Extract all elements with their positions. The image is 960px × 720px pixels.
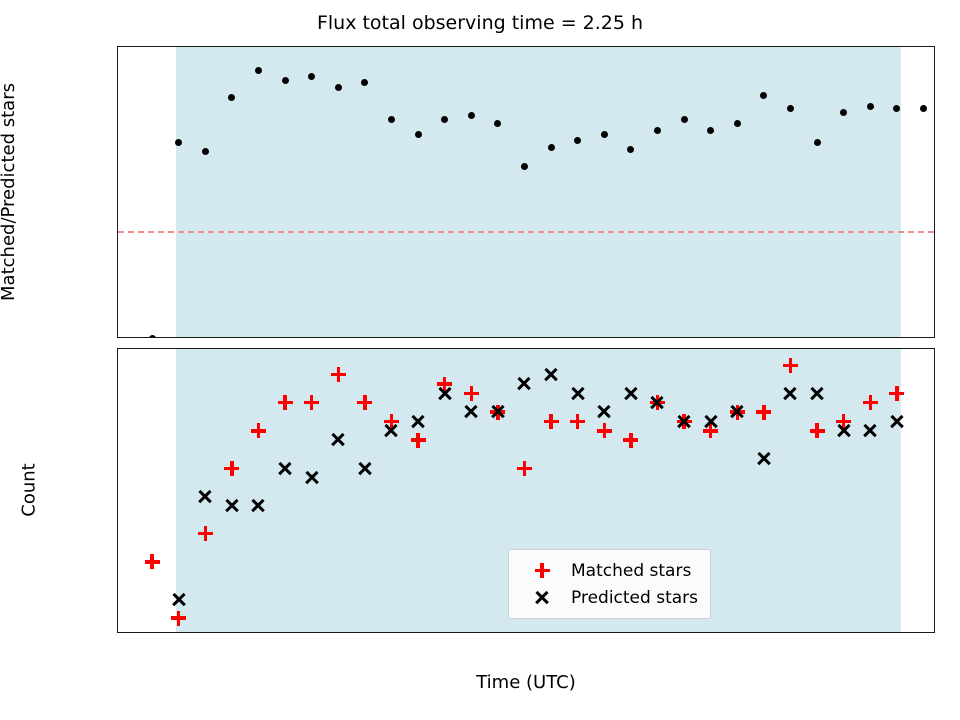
x-tick-mark <box>157 337 158 338</box>
top-panel-axes: 0.000.250.500.751.001.25 Measurements Th… <box>117 46 935 338</box>
predicted-stars-x-icon <box>519 588 565 608</box>
y-tick-mark <box>117 618 118 619</box>
measurement-point <box>468 112 475 119</box>
top-panel-y-axis-label: Matched/Predicted stars <box>0 46 20 338</box>
bottom-panel-y-axis-label: Count <box>19 348 41 633</box>
measurement-point <box>441 116 448 123</box>
x-tick-mark <box>257 337 258 338</box>
measurement-point <box>814 139 821 146</box>
x-axis-label: Time (UTC) <box>117 672 935 693</box>
measurement-point <box>255 67 262 74</box>
matched-stars-plus-icon <box>519 561 565 581</box>
x-tick-mark <box>559 632 560 633</box>
measurement-point <box>308 73 315 80</box>
y-tick-mark <box>117 478 118 479</box>
y-tick-mark <box>117 124 118 125</box>
x-tick-mark <box>157 632 158 633</box>
y-tick-mark <box>117 284 118 285</box>
x-tick-mark <box>358 337 359 338</box>
bottom-panel-axes: 202530354045 19:3020:0020:3021:0021:30 M… <box>117 348 935 633</box>
measurement-point <box>282 77 289 84</box>
y-tick-mark <box>117 177 118 178</box>
measurement-point <box>388 116 395 123</box>
measurement-point <box>787 105 794 112</box>
bottom-panel-legend: Matched stars Predicted stars <box>508 549 711 619</box>
x-tick-mark <box>458 337 459 338</box>
x-tick-mark <box>458 632 459 633</box>
x-tick-mark <box>257 632 258 633</box>
measurement-point <box>415 131 422 138</box>
top-panel-shaded-span <box>176 47 901 337</box>
legend-label-matched-stars: Matched stars <box>565 561 691 581</box>
measurement-point <box>149 335 156 339</box>
x-tick-mark <box>358 632 359 633</box>
measurement-point <box>867 103 874 110</box>
measurement-point <box>707 127 714 134</box>
legend-item-predicted-stars: Predicted stars <box>519 584 698 611</box>
y-tick-mark <box>117 431 118 432</box>
y-tick-mark <box>117 571 118 572</box>
measurement-point <box>920 105 927 112</box>
figure-title: Flux total observing time = 2.25 h <box>0 12 960 34</box>
x-tick-mark <box>559 337 560 338</box>
y-tick-mark <box>117 70 118 71</box>
y-tick-mark <box>117 384 118 385</box>
threshold-line <box>118 231 934 233</box>
measurement-point <box>548 144 555 151</box>
legend-label-predicted-stars: Predicted stars <box>565 588 698 608</box>
figure-canvas: Flux total observing time = 2.25 h Match… <box>0 0 960 720</box>
measurement-point <box>521 163 528 170</box>
measurement-point <box>681 116 688 123</box>
measurement-point <box>734 120 741 127</box>
legend-item-matched-stars: Matched stars <box>519 557 698 584</box>
measurement-point <box>335 84 342 91</box>
y-tick-mark <box>117 524 118 525</box>
measurement-point <box>654 127 661 134</box>
measurement-point <box>601 131 608 138</box>
y-tick-mark <box>117 231 118 232</box>
measurement-point <box>202 148 209 155</box>
